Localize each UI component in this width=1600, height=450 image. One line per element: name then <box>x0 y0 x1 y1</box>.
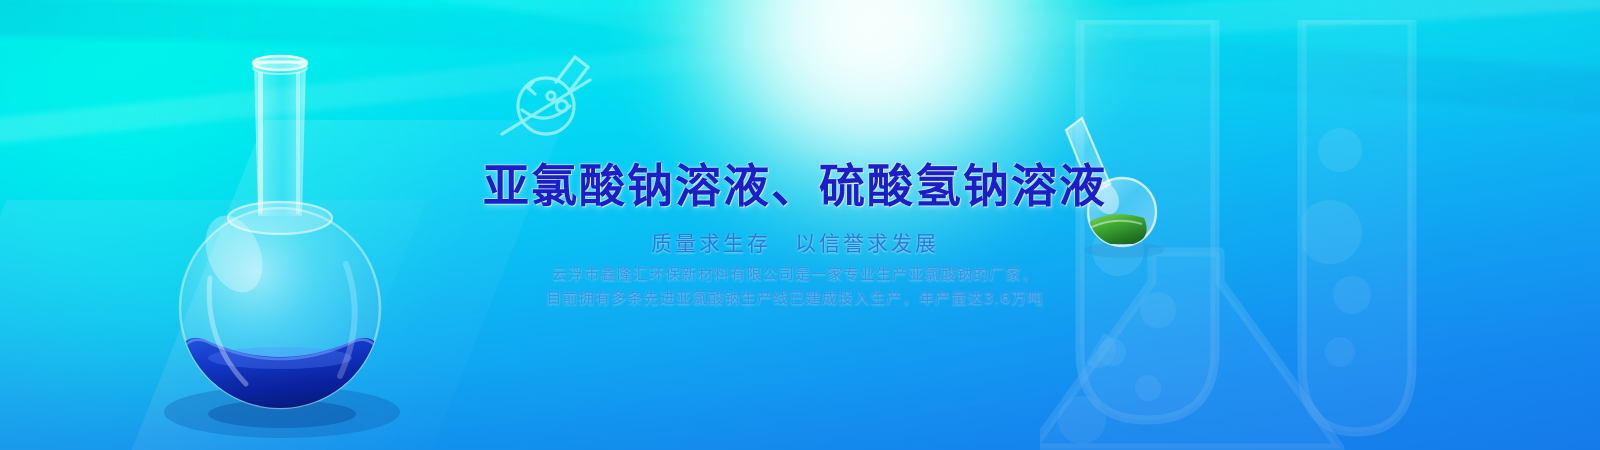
watermark-test-tube-2 <box>1298 20 1412 432</box>
tilted-flask-green-liquid <box>1048 112 1180 260</box>
flask-outline-icon <box>478 44 598 148</box>
round-bottom-flask-blue-liquid <box>150 40 410 440</box>
chemical-product-banner: 亚氯酸钠溶液、硫酸氢钠溶液 质量求生存 以信誉求发展 云浮市鑫隆汇环保新材料有限… <box>0 0 1600 450</box>
